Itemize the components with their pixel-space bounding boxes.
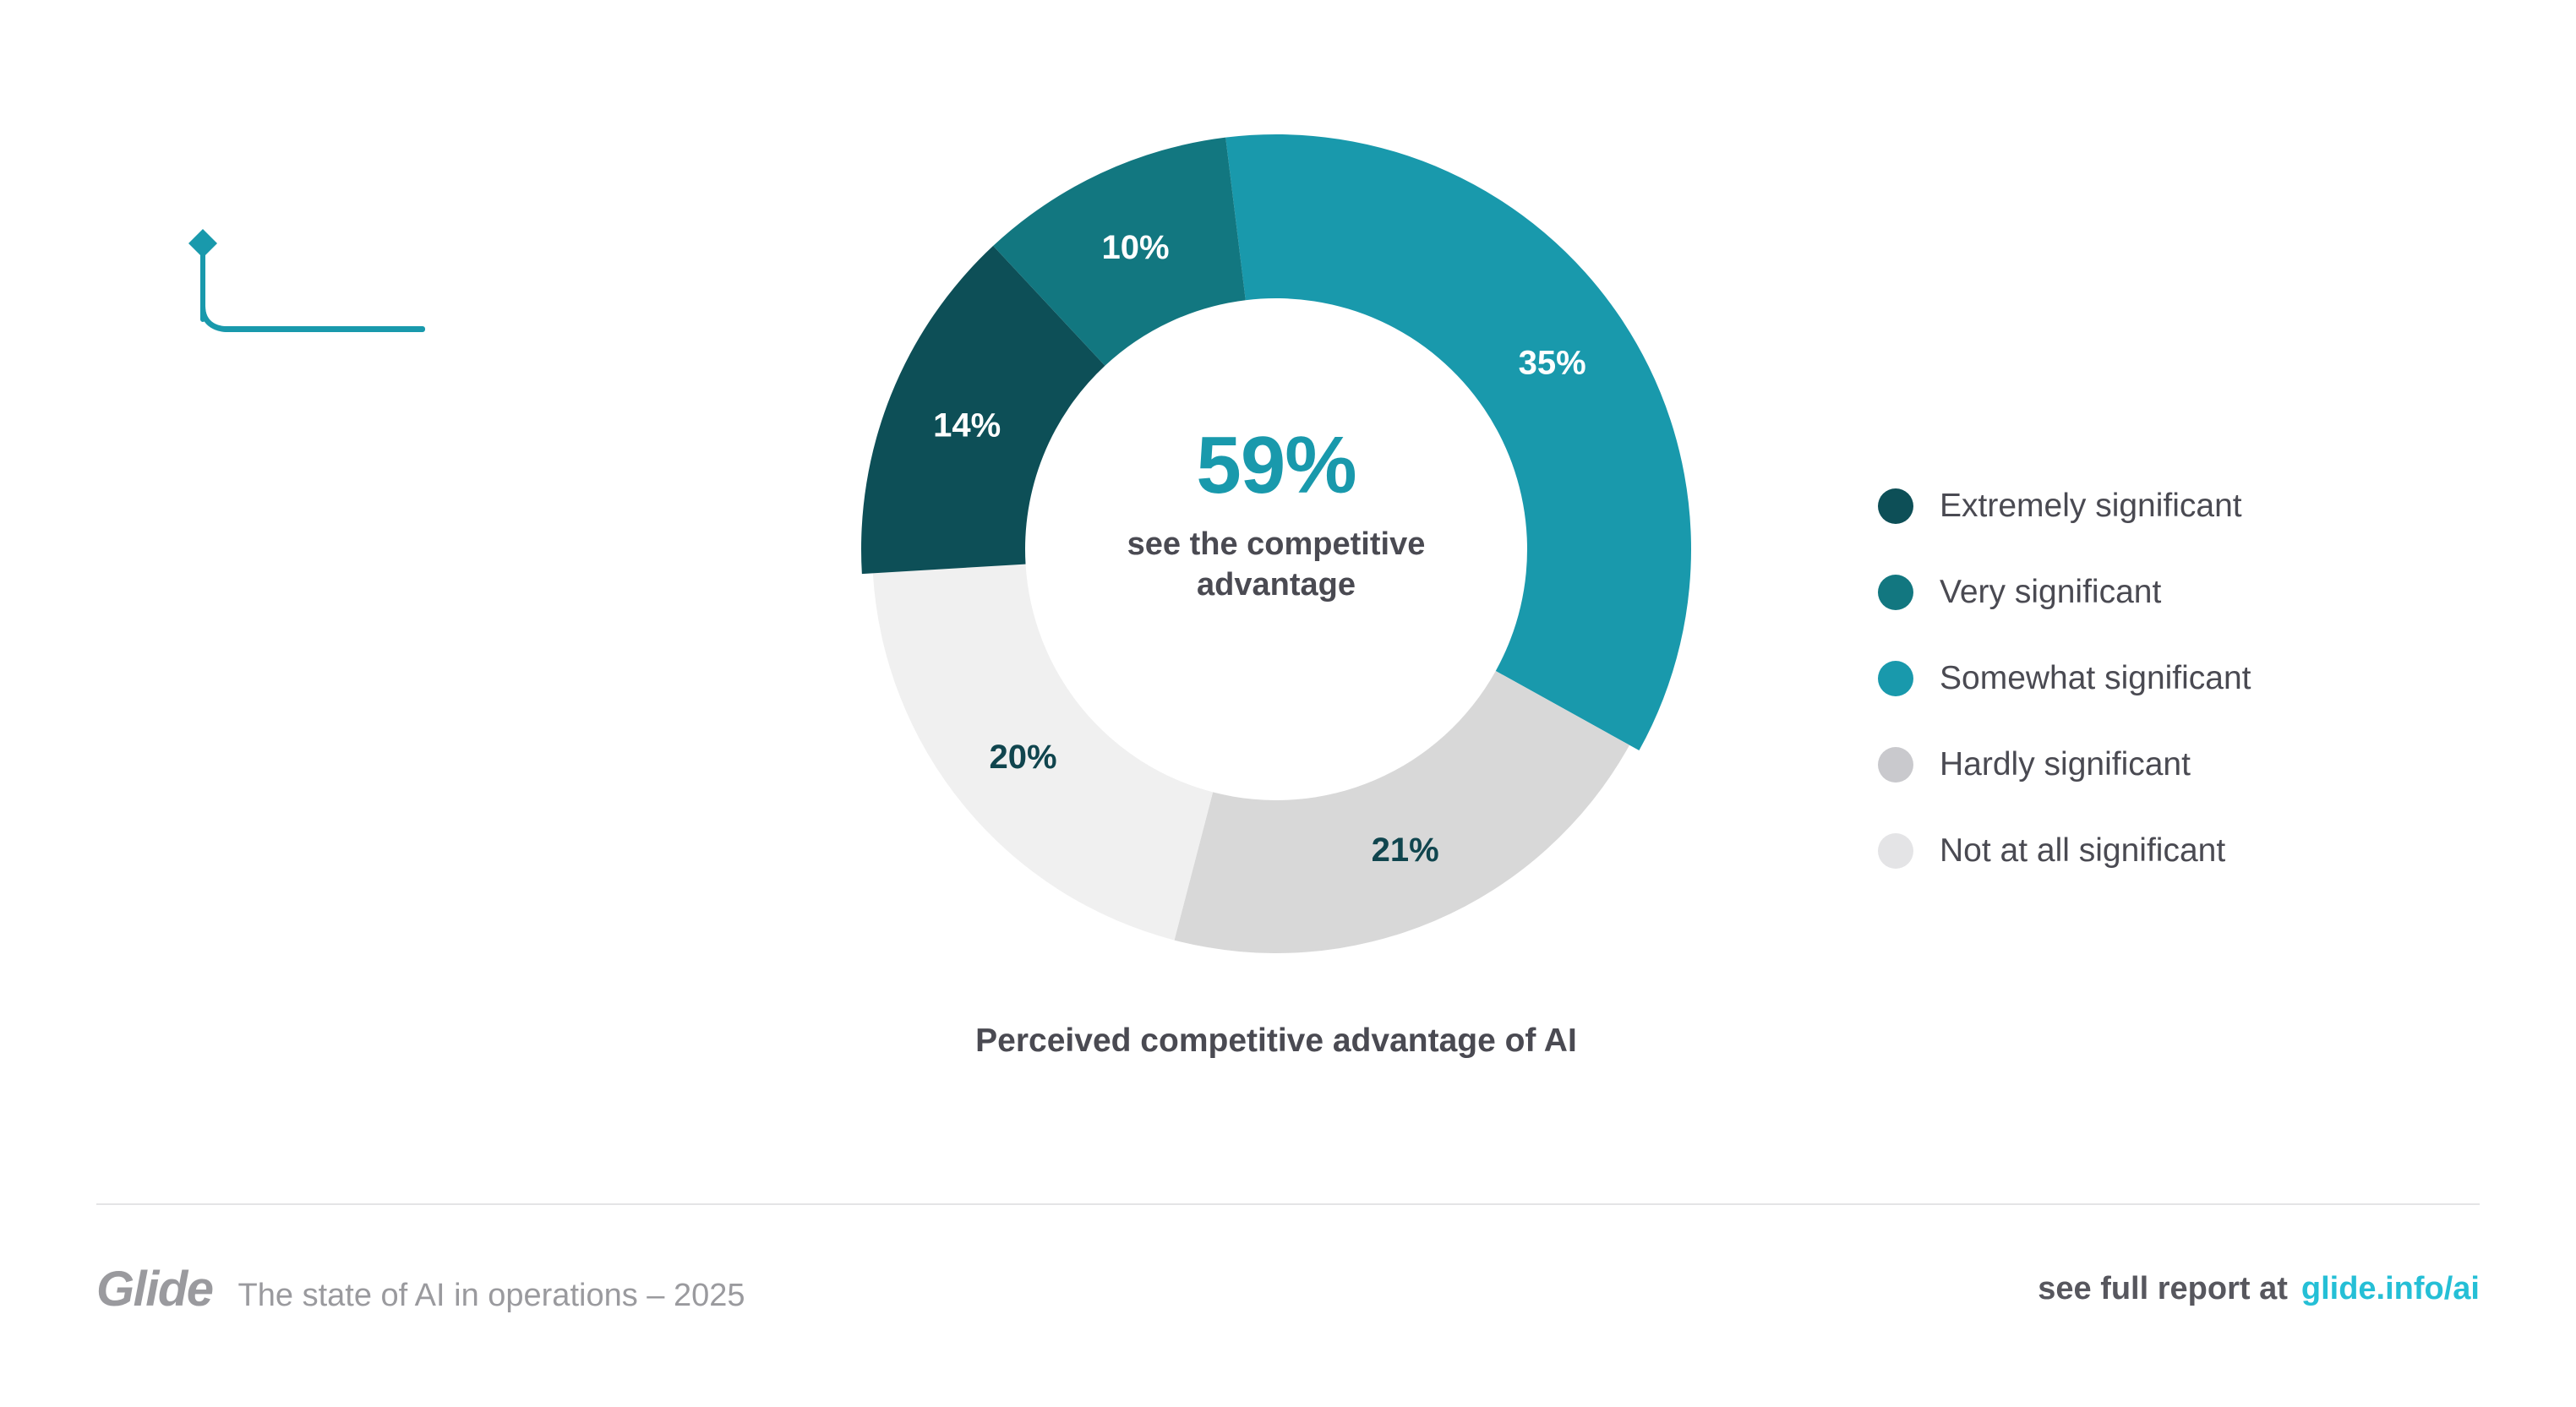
legend-item[interactable]: Not at all significant: [1878, 808, 2470, 894]
legend-swatch-icon: [1878, 575, 1913, 610]
donut-slice-value-label: 10%: [1101, 229, 1169, 266]
donut-slice-value-label: 20%: [990, 739, 1057, 776]
legend-item-label: Somewhat significant: [1940, 660, 2251, 697]
donut-slice: [1175, 671, 1630, 953]
legend-item[interactable]: Somewhat significant: [1878, 635, 2470, 722]
legend-item-label: Not at all significant: [1940, 832, 2225, 870]
footer-right: see full report at glide.info/ai: [2038, 1271, 2480, 1307]
center-statistic-caption-line-2: advantage: [1197, 567, 1356, 603]
donut-slice-value-label: 35%: [1519, 345, 1586, 382]
legend-item[interactable]: Very significant: [1878, 549, 2470, 635]
center-statistic: 59% see the competitive advantage: [1023, 423, 1530, 606]
legend-swatch-icon: [1878, 833, 1913, 869]
footer-divider: [96, 1203, 2480, 1205]
donut-slice-value-label: 14%: [933, 407, 1001, 444]
footer-cta-link[interactable]: glide.info/ai: [2301, 1271, 2480, 1307]
legend-swatch-icon: [1878, 661, 1913, 696]
legend-swatch-icon: [1878, 488, 1913, 524]
legend-item-label: Very significant: [1940, 574, 2161, 611]
center-statistic-value: 59%: [1023, 423, 1530, 509]
donut-chart: 35%21%20%14%10% 59% see the competitive …: [0, 0, 1758, 1124]
center-statistic-caption-line-1: see the competitive: [1127, 526, 1426, 562]
donut-slice-value-label: 21%: [1372, 832, 1439, 869]
legend-item-label: Hardly significant: [1940, 746, 2191, 783]
legend-item-label: Extremely significant: [1940, 488, 2242, 525]
footer-left: Glide The state of AI in operations – 20…: [96, 1261, 745, 1317]
chart-legend: Extremely significantVery significantSom…: [1878, 463, 2470, 894]
chart-caption: Perceived competitive advantage of AI: [431, 1023, 2121, 1060]
legend-item[interactable]: Extremely significant: [1878, 463, 2470, 549]
footer-cta-text: see full report at: [2038, 1271, 2288, 1307]
footer-report-title: The state of AI in operations – 2025: [238, 1278, 745, 1314]
legend-swatch-icon: [1878, 747, 1913, 783]
legend-item[interactable]: Hardly significant: [1878, 722, 2470, 808]
glide-logo: Glide: [96, 1261, 213, 1317]
footer: Glide The state of AI in operations – 20…: [96, 1242, 2480, 1335]
center-statistic-caption: see the competitive advantage: [1023, 524, 1530, 606]
